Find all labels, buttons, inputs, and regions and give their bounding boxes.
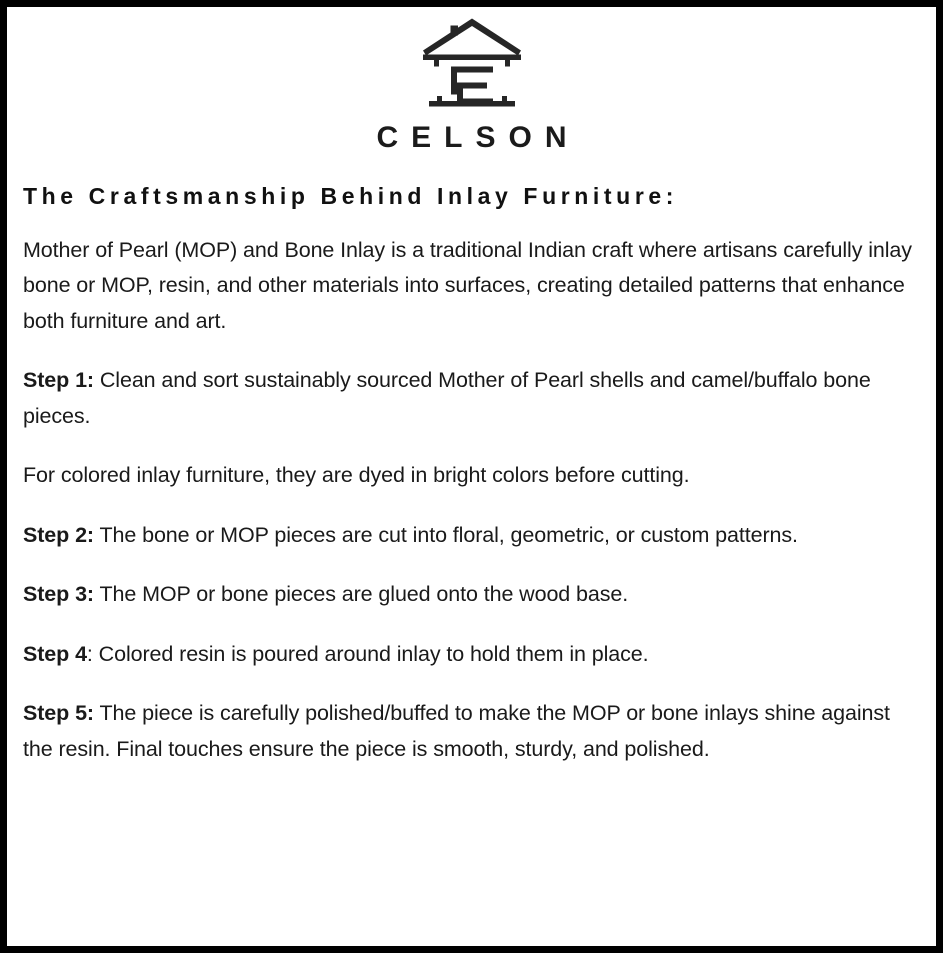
paragraph-label: Step 1:: [23, 368, 94, 392]
paragraph-step-1: Step 1: Clean and sort sustainably sourc…: [23, 363, 921, 434]
paragraph-label: Step 3:: [23, 582, 94, 606]
paragraph-text: Clean and sort sustainably sourced Mothe…: [23, 368, 871, 428]
paragraph-step-5: Step 5: The piece is carefully polished/…: [23, 696, 921, 767]
article-body: Mother of Pearl (MOP) and Bone Inlay is …: [23, 211, 927, 768]
house-with-monogram-logo-icon: [420, 13, 524, 111]
paragraph-step-3: Step 3: The MOP or bone pieces are glued…: [23, 577, 921, 613]
paragraph-text: The piece is carefully polished/buffed t…: [23, 701, 890, 761]
paragraph-text: Mother of Pearl (MOP) and Bone Inlay is …: [23, 238, 912, 333]
paragraph-intro: Mother of Pearl (MOP) and Bone Inlay is …: [23, 233, 921, 340]
paragraph-label: Step 5:: [23, 701, 94, 725]
paragraph-text: For colored inlay furniture, they are dy…: [23, 463, 690, 487]
brand-block: CELSON: [16, 7, 927, 153]
paragraph-step-2: Step 2: The bone or MOP pieces are cut i…: [23, 518, 921, 554]
page-content: CELSON The Craftsmanship Behind Inlay Fu…: [7, 7, 936, 946]
brand-wordmark: CELSON: [16, 123, 927, 153]
paragraph-text: : Colored resin is poured around inlay t…: [87, 642, 649, 666]
paragraph-label: Step 4: [23, 642, 87, 666]
paragraph-text: The MOP or bone pieces are glued onto th…: [94, 582, 628, 606]
paragraph-dye-note: For colored inlay furniture, they are dy…: [23, 458, 921, 494]
poster-page: CELSON The Craftsmanship Behind Inlay Fu…: [0, 0, 943, 953]
paragraph-text: The bone or MOP pieces are cut into flor…: [94, 523, 798, 547]
paragraph-step-4: Step 4: Colored resin is poured around i…: [23, 637, 921, 673]
paragraph-label: Step 2:: [23, 523, 94, 547]
page-title: The Craftsmanship Behind Inlay Furniture…: [23, 183, 927, 211]
